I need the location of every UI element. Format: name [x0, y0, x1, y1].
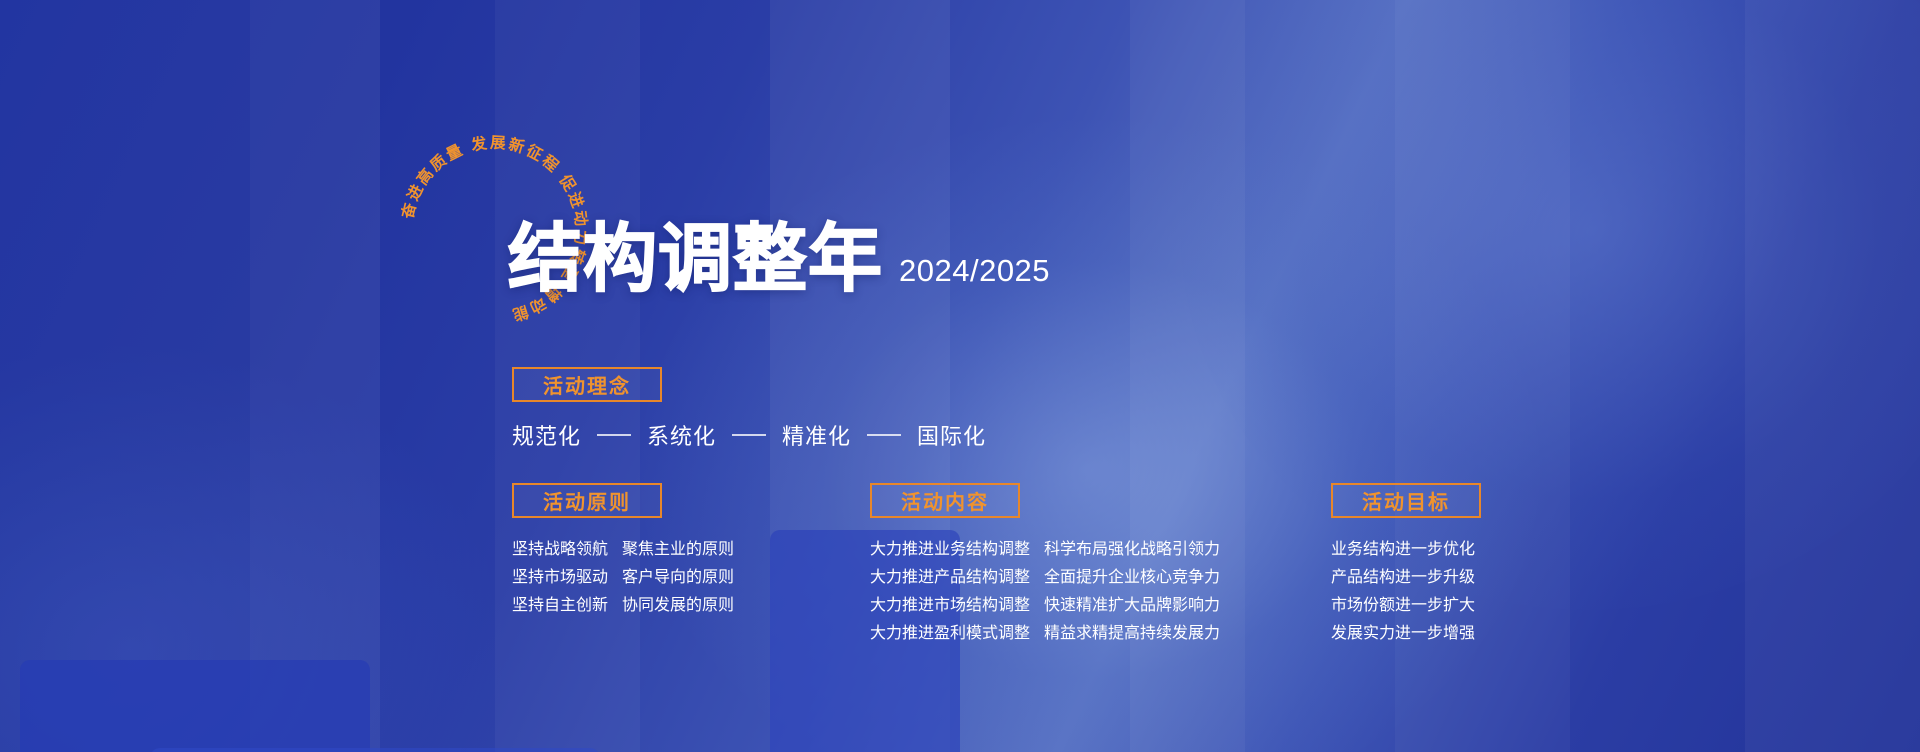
badge-content[interactable]: 活动内容	[870, 483, 1020, 518]
column-body: 大力推进业务结构调整科学布局强化战略引领力大力推进产品结构调整全面提升企业核心竞…	[870, 536, 1220, 648]
list-item-primary: 坚持自主创新	[512, 592, 608, 620]
list-item: 大力推进业务结构调整科学布局强化战略引领力	[870, 536, 1220, 564]
list-item-secondary: 客户导向的原则	[622, 564, 734, 592]
list-item-primary: 大力推进业务结构调整	[870, 536, 1030, 564]
concept-keyword: 规范化	[512, 419, 581, 451]
list-item: 大力推进市场结构调整快速精准扩大品牌影响力	[870, 592, 1220, 620]
column-body: 坚持战略领航聚焦主业的原则坚持市场驱动客户导向的原则坚持自主创新协同发展的原则	[512, 536, 734, 620]
list-item-secondary: 科学布局强化战略引领力	[1044, 536, 1220, 564]
background-band	[250, 0, 380, 752]
list-item-primary: 市场份额进一步扩大	[1331, 592, 1475, 620]
content-column-goals: 活动目标 业务结构进一步优化产品结构进一步升级市场份额进一步扩大发展实力进一步增…	[1331, 483, 1481, 648]
list-item-primary: 大力推进市场结构调整	[870, 592, 1030, 620]
list-item-secondary: 全面提升企业核心竞争力	[1044, 564, 1220, 592]
background-glow-left	[0, 340, 510, 752]
list-item-secondary: 协同发展的原则	[622, 592, 734, 620]
page-title: 结构调整年	[508, 222, 883, 296]
list-item: 大力推进盈利模式调整精益求精提高持续发展力	[870, 620, 1220, 648]
list-item: 发展实力进一步增强	[1331, 620, 1481, 648]
content-column-content: 活动内容 大力推进业务结构调整科学布局强化战略引领力大力推进产品结构调整全面提升…	[870, 483, 1220, 648]
badge-principles[interactable]: 活动原则	[512, 483, 662, 518]
concept-keyword-line: 规范化系统化精准化国际化	[512, 419, 986, 451]
list-item-secondary: 聚焦主业的原则	[622, 536, 734, 564]
list-item-primary: 大力推进产品结构调整	[870, 564, 1030, 592]
list-item: 坚持市场驱动客户导向的原则	[512, 564, 734, 592]
list-item: 产品结构进一步升级	[1331, 564, 1481, 592]
title-row: 结构调整年 2024/2025	[508, 222, 1050, 296]
badge-goals[interactable]: 活动目标	[1331, 483, 1481, 518]
concept-separator	[732, 434, 766, 436]
column-body: 业务结构进一步优化产品结构进一步升级市场份额进一步扩大发展实力进一步增强	[1331, 536, 1481, 648]
list-item-primary: 产品结构进一步升级	[1331, 564, 1475, 592]
decorative-rectangle	[150, 748, 600, 752]
concept-keyword: 国际化	[917, 419, 986, 451]
concept-keyword: 精准化	[782, 419, 851, 451]
content-column-principles: 活动原则 坚持战略领航聚焦主业的原则坚持市场驱动客户导向的原则坚持自主创新协同发…	[512, 483, 734, 620]
background-band	[0, 0, 250, 752]
title-year: 2024/2025	[899, 253, 1050, 296]
concept-keyword: 系统化	[647, 419, 716, 451]
list-item-primary: 坚持市场驱动	[512, 564, 608, 592]
list-item-primary: 发展实力进一步增强	[1331, 620, 1475, 648]
list-item: 坚持战略领航聚焦主业的原则	[512, 536, 734, 564]
promotional-banner: 奋进高质量 发展新征程 促进动力转型 增动能 结构调整年 2024/2025 活…	[0, 0, 1920, 752]
decorative-rectangle	[20, 660, 370, 752]
badge-concept[interactable]: 活动理念	[512, 367, 662, 402]
list-item: 业务结构进一步优化	[1331, 536, 1481, 564]
background-glow-right	[1180, 0, 1920, 610]
list-item-primary: 坚持战略领航	[512, 536, 608, 564]
list-item: 坚持自主创新协同发展的原则	[512, 592, 734, 620]
list-item-secondary: 快速精准扩大品牌影响力	[1044, 592, 1220, 620]
list-item-secondary: 精益求精提高持续发展力	[1044, 620, 1220, 648]
list-item: 大力推进产品结构调整全面提升企业核心竞争力	[870, 564, 1220, 592]
list-item-primary: 大力推进盈利模式调整	[870, 620, 1030, 648]
list-item-primary: 业务结构进一步优化	[1331, 536, 1475, 564]
concept-separator	[597, 434, 631, 436]
list-item: 市场份额进一步扩大	[1331, 592, 1481, 620]
concept-separator	[867, 434, 901, 436]
background-band	[1745, 0, 1920, 752]
